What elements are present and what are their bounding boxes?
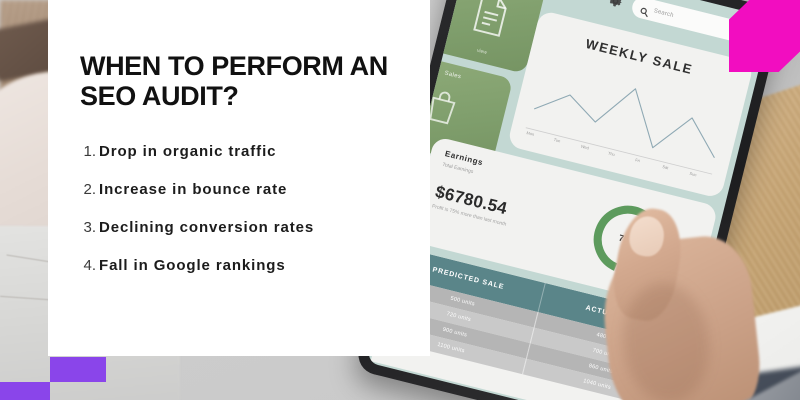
list-item: 1. Drop in organic traffic xyxy=(74,143,424,160)
search-placeholder: Search xyxy=(653,8,674,19)
search-icon xyxy=(639,2,651,14)
x-tick-label: Fri xyxy=(635,157,641,163)
slide-canvas: Search Files view Sales xyxy=(0,0,800,400)
list-item-label: Increase in bounce rate xyxy=(99,181,287,198)
list-item-number: 4. xyxy=(74,257,99,274)
purple-accent-block-lower xyxy=(0,382,50,400)
list-item: 2. Increase in bounce rate xyxy=(74,181,424,198)
document-icon xyxy=(469,0,512,39)
list-item-label: Declining conversion rates xyxy=(99,219,314,236)
list-item-number: 3. xyxy=(74,219,99,236)
content-panel: WHEN TO PERFORM AN SEO AUDIT? 1. Drop in… xyxy=(48,0,430,356)
list-item: 3. Declining conversion rates xyxy=(74,219,424,236)
page-title: WHEN TO PERFORM AN SEO AUDIT? xyxy=(80,52,410,111)
reasons-list: 1. Drop in organic traffic 2. Increase i… xyxy=(74,143,424,295)
list-item-number: 2. xyxy=(74,181,99,198)
purple-accent-block-upper xyxy=(50,357,106,382)
magenta-accent-shape xyxy=(729,0,800,72)
list-item: 4. Fall in Google rankings xyxy=(74,257,424,274)
list-item-label: Fall in Google rankings xyxy=(99,257,286,274)
sidebar-card-label: Sales xyxy=(444,71,462,81)
photo-hand xyxy=(583,159,798,400)
list-item-number: 1. xyxy=(74,143,99,160)
sidebar-card-sub: view xyxy=(476,48,487,56)
gear-icon[interactable] xyxy=(605,0,626,11)
list-item-label: Drop in organic traffic xyxy=(99,143,276,160)
